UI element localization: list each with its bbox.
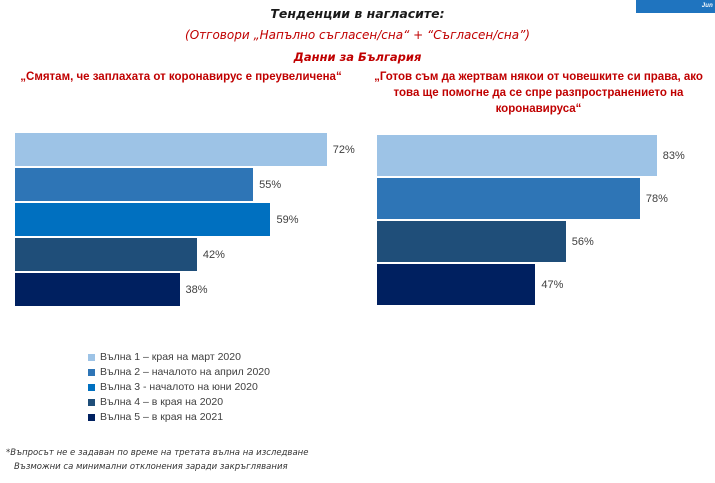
bar-row: 83%	[362, 135, 715, 176]
bar-value-label: 55%	[253, 179, 281, 191]
bar-segment	[15, 168, 253, 201]
footnote-line-1: *Въпросът не е задаван по време на трета…	[6, 448, 308, 458]
legend-color-swatch	[88, 414, 95, 421]
bar-row: 72%	[0, 133, 377, 166]
left-question-text: „Смятам, че заплахата от коронавирус е п…	[0, 65, 362, 85]
legend-item: Вълна 3 - началото на юни 2020	[88, 380, 270, 395]
bar-segment	[377, 135, 657, 176]
bar-row: 47%	[362, 264, 715, 305]
bar-value-label: 72%	[327, 144, 355, 156]
bar-value-label: 83%	[657, 150, 685, 162]
legend-item: Вълна 5 – в края на 2021	[88, 410, 270, 425]
bar-value-label: 38%	[180, 284, 208, 296]
bar-value-label: 56%	[566, 236, 594, 248]
legend-label: Вълна 3 - началото на юни 2020	[100, 380, 258, 395]
bar-segment	[15, 238, 197, 271]
legend-label: Вълна 1 – края на март 2020	[100, 350, 241, 365]
footnote: *Въпросът не е задаван по време на трета…	[6, 446, 426, 474]
title-block: Тенденции в нагласите: (Отговори „Напълн…	[0, 0, 715, 66]
bar-row: 56%	[362, 221, 715, 262]
slide-canvas: Jun Тенденции в нагласите: (Отговори „На…	[0, 0, 715, 483]
bar-segment	[15, 203, 270, 236]
bar-row: 59%	[0, 203, 377, 236]
bar-value-label: 47%	[535, 279, 563, 291]
legend-label: Вълна 2 – началото на април 2020	[100, 365, 270, 380]
bar-segment	[377, 178, 640, 219]
left-bar-chart: 72%55%59%42%38%	[0, 133, 362, 318]
right-question-text: „Готов съм да жертвам някои от човешките…	[362, 65, 715, 117]
right-chart-panel: „Готов съм да жертвам някои от човешките…	[362, 65, 715, 483]
legend-color-swatch	[88, 384, 95, 391]
left-chart-legend: Вълна 1 – края на март 2020Вълна 2 – нач…	[88, 350, 270, 425]
bar-segment	[15, 133, 327, 166]
bar-segment	[377, 221, 566, 262]
left-chart-panel: „Смятам, че заплахата от коронавирус е п…	[0, 65, 362, 483]
legend-item: Вълна 1 – края на март 2020	[88, 350, 270, 365]
bar-row: 55%	[0, 168, 377, 201]
legend-color-swatch	[88, 354, 95, 361]
bar-row: 78%	[362, 178, 715, 219]
legend-label: Вълна 4 – в края на 2020	[100, 395, 223, 410]
page-subtitle: (Отговори „Напълно съгласен/сна“ + “Съгл…	[0, 27, 715, 44]
bar-row: 42%	[0, 238, 377, 271]
bar-segment	[15, 273, 180, 306]
legend-item: Вълна 4 – в края на 2020	[88, 395, 270, 410]
bar-value-label: 59%	[270, 214, 298, 226]
bar-row: 38%	[0, 273, 377, 306]
right-bar-chart: 83%78%56%47%	[362, 135, 715, 315]
legend-item: Вълна 2 – началото на април 2020	[88, 365, 270, 380]
legend-label: Вълна 5 – в края на 2021	[100, 410, 223, 425]
page-title: Тенденции в нагласите:	[0, 5, 715, 22]
footnote-line-2: Възможни са минимални отклонения заради …	[6, 460, 426, 474]
bar-segment	[377, 264, 535, 305]
bar-value-label: 42%	[197, 249, 225, 261]
bar-value-label: 78%	[640, 193, 668, 205]
legend-color-swatch	[88, 369, 95, 376]
legend-color-swatch	[88, 399, 95, 406]
page-subtitle-country: Данни за България	[0, 49, 715, 66]
